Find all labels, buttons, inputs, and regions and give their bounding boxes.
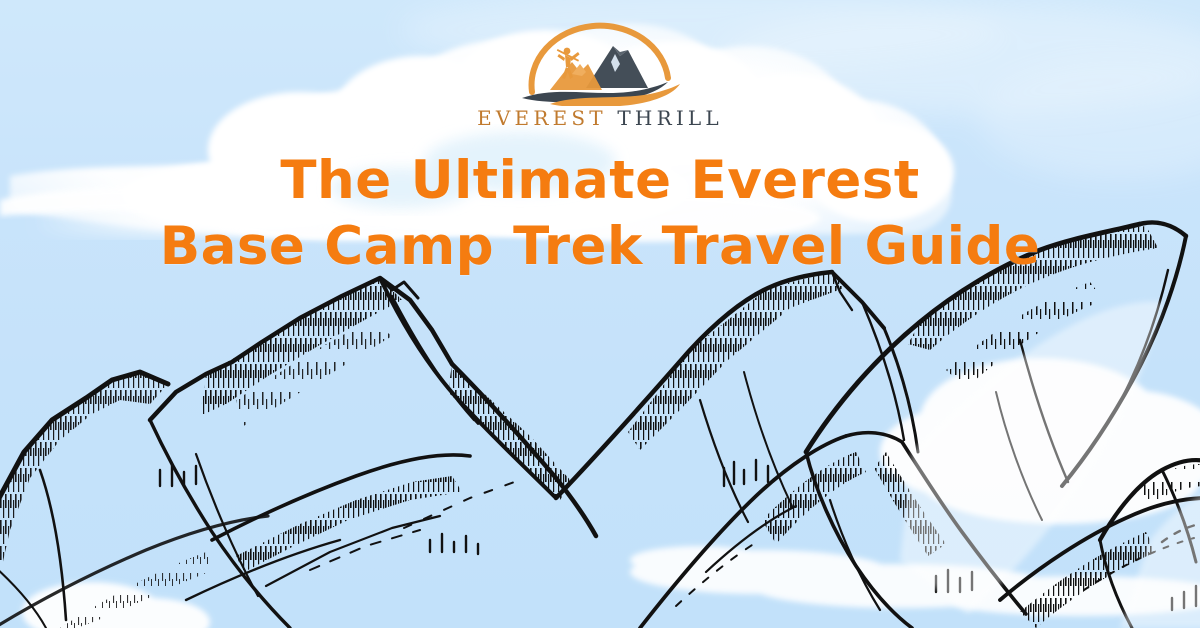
logo-word-everest: EVEREST [477,106,607,130]
page-title-line-1: The Ultimate Everest [0,148,1200,214]
brand-logo[interactable]: EVEREST THRILL [0,22,1200,128]
snow-face-highlights [900,302,1200,628]
logo-word-thrill: THRILL [617,106,723,130]
page-title-line-2: Base Camp Trek Travel Guide [0,214,1200,280]
everest-thrill-logo-icon [516,22,684,106]
logo-wordmark: EVEREST THRILL [477,108,723,128]
hero-banner: EVEREST THRILL The Ultimate Everest Base… [0,0,1200,628]
page-title: The Ultimate Everest Base Camp Trek Trav… [0,148,1200,280]
